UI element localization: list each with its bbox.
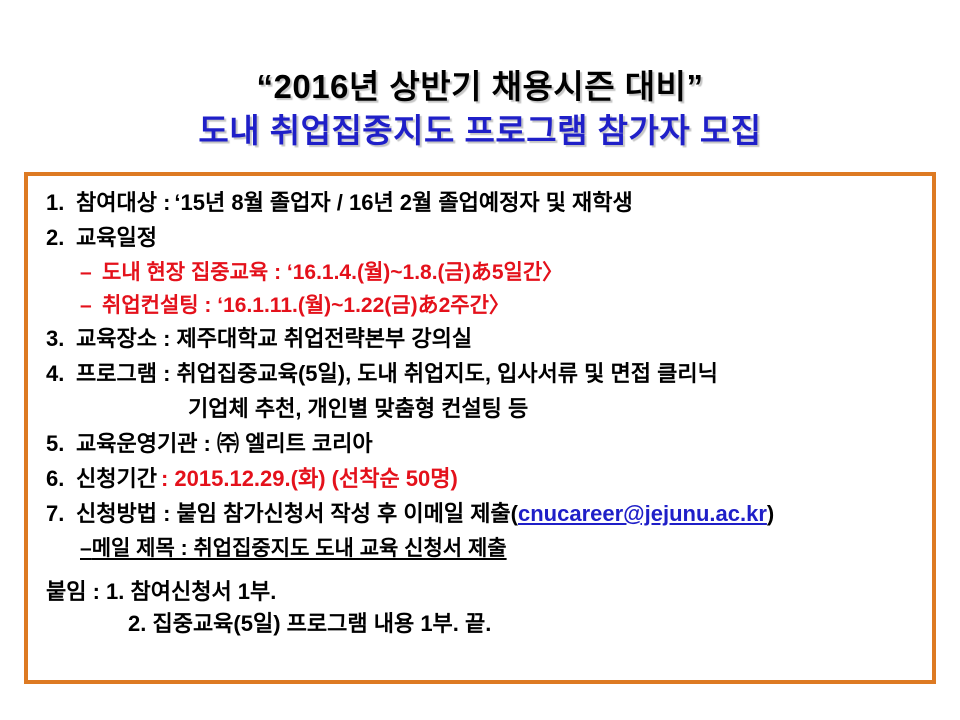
- list-item-2-number: 2.: [46, 227, 76, 249]
- list-item-4-text: 프로그램 : 취업집중교육(5일), 도내 취업지도, 입사서류 및 면접 클리…: [76, 361, 718, 386]
- email-link[interactable]: cnucareer@jejunu.ac.kr: [518, 501, 767, 526]
- list-item-3-text: 교육장소 : 제주대학교 취업전략본부 강의실: [76, 326, 472, 351]
- list-item-2-sub-1-text: 도내 현장 집중교육 : ‘16.1.4.(월)~1.8.(금)あ5일간〉: [102, 261, 563, 284]
- dash-icon: –: [80, 295, 102, 316]
- list-item-2-sub-1: –도내 현장 집중교육 : ‘16.1.4.(월)~1.8.(금)あ5일간〉: [42, 262, 922, 283]
- list-item-2-sub-2-text: 취업컨설팅 : ‘16.1.11.(월)~1.22(금)あ2주간〉: [102, 294, 510, 317]
- list-item-6: 6.신청기간: 2015.12.29.(화) (선착순 50명): [42, 468, 922, 490]
- list-item-7-sub: –메일 제목 : 취업집중지도 도내 교육 신청서 제출: [42, 538, 922, 559]
- list-item-5: 5.교육운영기관 : ㈜ 엘리트 코리아: [42, 433, 922, 455]
- list-item-2-label: 교육일정: [76, 225, 157, 250]
- list-item-5-text: 교육운영기관 : ㈜ 엘리트 코리아: [76, 431, 373, 456]
- attachment-line-2: 2. 집중교육(5일) 프로그램 내용 1부. 끝.: [42, 613, 922, 635]
- list-item-6-number: 6.: [46, 468, 76, 490]
- list-item-1-label: 참여대상 :: [76, 190, 170, 215]
- list-item-4-number: 4.: [46, 363, 76, 385]
- list-item-4: 4.프로그램 : 취업집중교육(5일), 도내 취업지도, 입사서류 및 면접 …: [42, 363, 922, 385]
- dash-icon: –: [80, 537, 92, 560]
- list-item-1-value: ‘15년 8월 졸업자 / 16년 2월 졸업예정자 및 재학생: [174, 190, 632, 215]
- list-item-2: 2.교육일정: [42, 227, 922, 249]
- list-item-6-value: : 2015.12.29.(화) (선착순 50명): [161, 466, 458, 491]
- list-item-3: 3.교육장소 : 제주대학교 취업전략본부 강의실: [42, 328, 922, 350]
- list-item-7: 7.신청방법 : 붙임 참가신청서 작성 후 이메일 제출(cnucareer@…: [42, 503, 922, 525]
- title-line-2: 도내 취업집중지도 프로그램 참가자 모집: [0, 110, 960, 152]
- list-item-7-sub-text: 메일 제목 : 취업집중지도 도내 교육 신청서 제출: [92, 537, 507, 560]
- list-item-6-label: 신청기간: [76, 466, 157, 491]
- attachment-line-1: 붙임 : 1. 참여신청서 1부.: [42, 581, 922, 603]
- list-item-7-suffix: ): [767, 501, 774, 526]
- list-item-1: 1.참여대상 :‘15년 8월 졸업자 / 16년 2월 졸업예정자 및 재학생: [42, 192, 922, 214]
- content-box: 1.참여대상 :‘15년 8월 졸업자 / 16년 2월 졸업예정자 및 재학생…: [24, 172, 936, 684]
- title-block: “2016년 상반기 채용시즌 대비” 도내 취업집중지도 프로그램 참가자 모…: [0, 66, 960, 152]
- list-item-7-number: 7.: [46, 503, 76, 525]
- title-line-1: “2016년 상반기 채용시즌 대비”: [0, 66, 960, 108]
- list-item-5-number: 5.: [46, 433, 76, 455]
- list-item-3-number: 3.: [46, 328, 76, 350]
- list-item-1-number: 1.: [46, 192, 76, 214]
- list-item-2-sub-2: –취업컨설팅 : ‘16.1.11.(월)~1.22(금)あ2주간〉: [42, 295, 922, 316]
- announcement-slide: “2016년 상반기 채용시즌 대비” 도내 취업집중지도 프로그램 참가자 모…: [0, 0, 960, 720]
- list-item-4-continuation: 기업체 추천, 개인별 맞춤형 컨설팅 등: [42, 398, 922, 420]
- dash-icon: –: [80, 262, 102, 283]
- list-item-7-prefix: 신청방법 : 붙임 참가신청서 작성 후 이메일 제출(: [76, 501, 518, 526]
